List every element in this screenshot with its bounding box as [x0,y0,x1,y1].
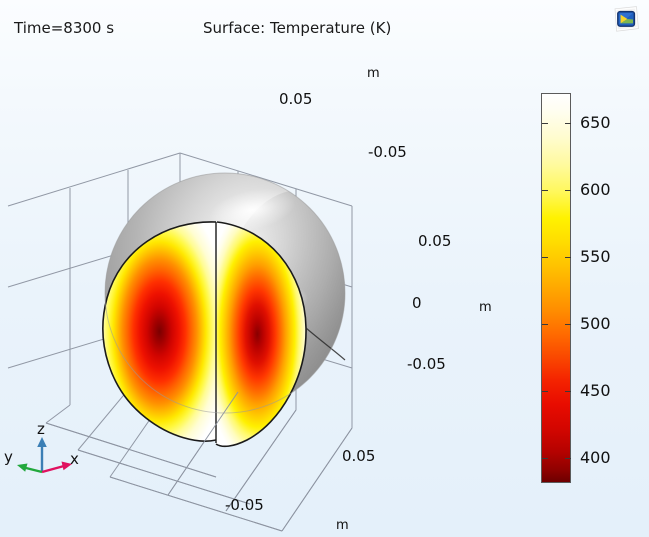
axis-label-bottom-right: 0.05 [342,447,375,465]
axis-label-right-lower: -0.05 [407,355,446,373]
axis-orientation-triad[interactable]: z x y [4,424,100,488]
temperature-sphere[interactable] [103,173,378,446]
colorbar-label-500: 500 [580,314,611,333]
colorbar-label-600: 600 [580,180,611,199]
comsol-logo-icon [612,5,640,33]
colorbar-label-650: 650 [580,113,611,132]
time-annotation: Time=8300 s [14,19,114,37]
y-axis-arrow [17,464,42,473]
colorbar-tick-right [565,257,571,258]
colorbar[interactable]: 650 600 550 500 450 400 [538,90,642,490]
axis-label-top-right: -0.05 [368,143,407,161]
colorbar-tick-left [542,123,548,124]
axis-label-right-mid: 0 [412,294,422,312]
colorbar-tick-right [565,458,571,459]
axis-unit-bottom: m [336,518,349,533]
colorbar-tick-left [542,190,548,191]
colorbar-tick-right [565,391,571,392]
colorbar-tick-left [542,257,548,258]
colorbar-tick-left [542,458,548,459]
axis-label-right-upper: 0.05 [418,232,451,250]
colorbar-label-400: 400 [580,448,611,467]
colorbar-tick-left [542,391,548,392]
colorbar-tick-right [565,123,571,124]
triad-label-y: y [4,448,13,466]
axis-label-top-left: 0.05 [279,90,312,108]
colorbar-label-450: 450 [580,381,611,400]
triad-label-x: x [70,450,79,468]
colorbar-tick-left [542,324,548,325]
x-axis-arrow [42,462,72,473]
visualization-canvas: Time=8300 s Surface: Temperature (K) [0,0,649,537]
triad-label-z: z [37,420,45,438]
axis-unit-right: m [479,300,492,315]
z-axis-arrow [37,437,47,472]
colorbar-tick-right [565,324,571,325]
page-title: Surface: Temperature (K) [203,19,391,37]
axis-label-bottom-left: -0.05 [225,496,264,514]
colorbar-tick-right [565,190,571,191]
colorbar-gradient [541,93,571,483]
axis-unit-top: m [367,66,380,81]
colorbar-label-550: 550 [580,247,611,266]
